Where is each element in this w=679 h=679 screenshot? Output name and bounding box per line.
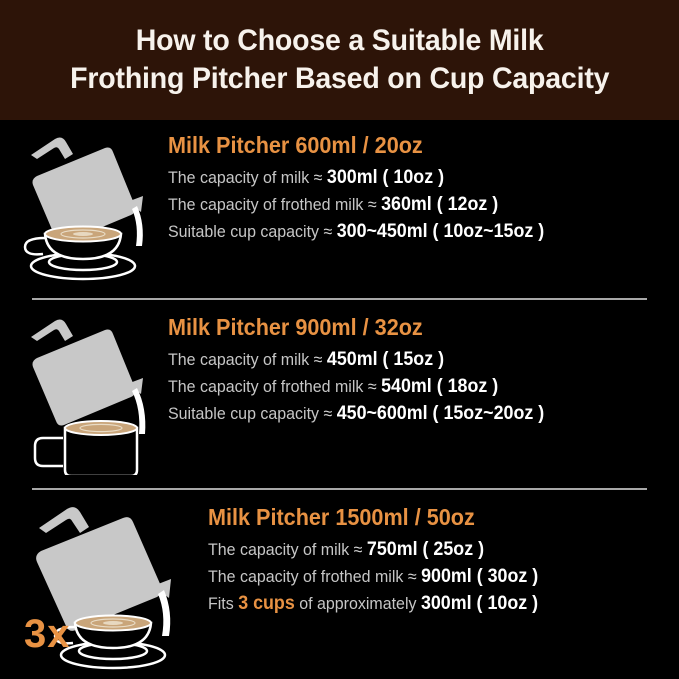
approx-symbol: ≈ [368, 377, 377, 396]
spec-label: The capacity of milk [168, 350, 309, 369]
spec-line-suitable-cup: Suitable cup capacity ≈ 300~450ml ( 10oz… [168, 218, 648, 245]
spec-label-prefix: Fits [208, 594, 234, 613]
spec-label: The capacity of frothed milk [168, 195, 363, 214]
pitcher-heading-1500ml: Milk Pitcher 1500ml / 50oz [208, 502, 651, 532]
approx-symbol: ≈ [323, 222, 332, 241]
spec-label: The capacity of frothed milk [208, 567, 403, 586]
spec-line-fits-cups: Fits 3 cups of approximately 300ml ( 10o… [208, 590, 651, 617]
spec-highlight-cups: 3 cups [238, 593, 295, 614]
spec-label-suffix: of approximately [299, 594, 416, 613]
spec-line-suitable-cup: Suitable cup capacity ≈ 450~600ml ( 15oz… [168, 400, 648, 427]
approx-symbol: ≈ [323, 404, 332, 423]
spec-label: Suitable cup capacity [168, 222, 319, 241]
spec-value: 450ml ( 15oz ) [327, 349, 444, 370]
spec-label: The capacity of frothed milk [168, 377, 363, 396]
spec-value: 750ml ( 25oz ) [367, 539, 484, 560]
infographic-page: How to Choose a Suitable Milk Frothing P… [0, 0, 679, 679]
approx-symbol: ≈ [314, 350, 323, 369]
page-title-line-2: Frothing Pitcher Based on Cup Capacity [70, 60, 609, 98]
approx-symbol: ≈ [314, 168, 323, 187]
spec-value: 300ml ( 10oz ) [421, 593, 538, 614]
pitcher-section-1500ml: Milk Pitcher 1500ml / 50oz The capacity … [0, 500, 679, 672]
spec-label: Suitable cup capacity [168, 404, 319, 423]
multiplier-badge: 3x [24, 612, 71, 656]
pitcher-heading-900ml: Milk Pitcher 900ml / 32oz [168, 312, 648, 342]
page-title-line-1: How to Choose a Suitable Milk [136, 22, 544, 60]
spec-value: 360ml ( 12oz ) [381, 194, 498, 215]
spec-value: 450~600ml ( 15oz~20oz ) [337, 403, 545, 424]
illustration-600ml [0, 128, 168, 286]
approx-symbol: ≈ [354, 540, 363, 559]
header-banner: How to Choose a Suitable Milk Frothing P… [0, 0, 679, 120]
section-divider [32, 488, 647, 490]
spec-value: 300ml ( 10oz ) [327, 167, 444, 188]
spec-value: 300~450ml ( 10oz~15oz ) [337, 221, 545, 242]
spec-text-600ml: Milk Pitcher 600ml / 20oz The capacity o… [168, 128, 679, 245]
pitcher-pouring-into-cup-icon [9, 128, 159, 283]
pitcher-pouring-into-mug-icon [9, 310, 159, 475]
spec-line-frothed-capacity: The capacity of frothed milk ≈ 360ml ( 1… [168, 191, 648, 218]
section-divider [32, 298, 647, 300]
approx-symbol: ≈ [408, 567, 417, 586]
spec-label: The capacity of milk [208, 540, 349, 559]
pitcher-section-600ml: Milk Pitcher 600ml / 20oz The capacity o… [0, 128, 679, 286]
spec-label: The capacity of milk [168, 168, 309, 187]
approx-symbol: ≈ [368, 195, 377, 214]
spec-text-900ml: Milk Pitcher 900ml / 32oz The capacity o… [168, 310, 679, 427]
spec-line-milk-capacity: The capacity of milk ≈ 450ml ( 15oz ) [168, 346, 648, 373]
illustration-900ml [0, 310, 168, 476]
spec-line-frothed-capacity: The capacity of frothed milk ≈ 900ml ( 3… [208, 563, 651, 590]
spec-line-milk-capacity: The capacity of milk ≈ 300ml ( 10oz ) [168, 164, 648, 191]
spec-value: 900ml ( 30oz ) [421, 566, 538, 587]
pitcher-heading-600ml: Milk Pitcher 600ml / 20oz [168, 130, 648, 160]
spec-line-frothed-capacity: The capacity of frothed milk ≈ 540ml ( 1… [168, 373, 648, 400]
pitcher-section-900ml: Milk Pitcher 900ml / 32oz The capacity o… [0, 310, 679, 476]
spec-value: 540ml ( 18oz ) [381, 376, 498, 397]
spec-line-milk-capacity: The capacity of milk ≈ 750ml ( 25oz ) [208, 536, 651, 563]
spec-text-1500ml: Milk Pitcher 1500ml / 50oz The capacity … [208, 500, 679, 617]
